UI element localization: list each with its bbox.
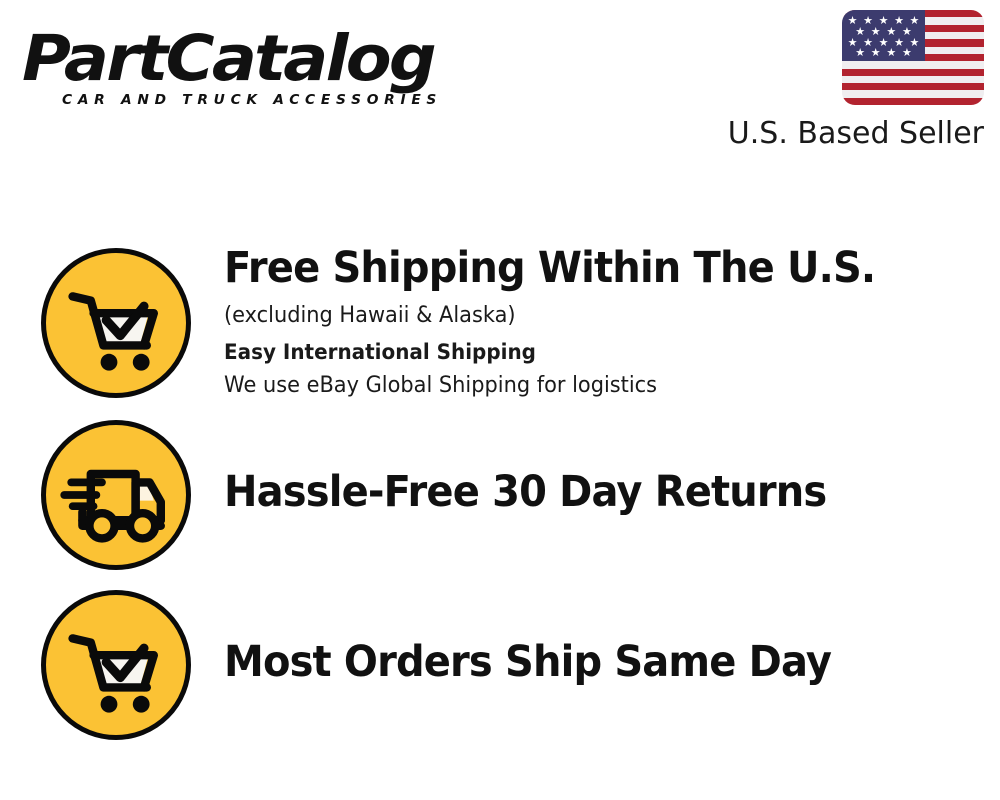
feature-item-returns: Hassle-Free 30 Day Returns	[41, 420, 941, 570]
feature-subtitle: Easy International Shipping	[224, 338, 536, 366]
us-based-seller-badge: ★★★★★ ★★★★ ★★★★★ ★★★★ U.S. Based Seller	[714, 10, 984, 151]
feature-title: Hassle-Free 30 Day Returns	[224, 464, 826, 520]
shopping-cart-check-icon	[41, 248, 191, 398]
feature-text: Hassle-Free 30 Day Returns	[224, 420, 944, 570]
feature-title: Free Shipping Within The U.S.	[224, 240, 875, 296]
brand-wordmark: PartCatalog	[22, 22, 434, 96]
brand-logo[interactable]: PartCatalog CAR AND TRUCK ACCESSORIES	[22, 22, 492, 114]
flag-canton: ★★★★★ ★★★★ ★★★★★ ★★★★	[842, 10, 925, 61]
feature-subtext: We use eBay Global Shipping for logistic…	[224, 371, 657, 401]
promo-banner: PartCatalog CAR AND TRUCK ACCESSORIES	[0, 0, 1000, 800]
feature-title: Most Orders Ship Same Day	[224, 634, 831, 690]
feature-text: Most Orders Ship Same Day	[224, 590, 944, 740]
shopping-cart-check-icon	[41, 590, 191, 740]
delivery-truck-icon	[41, 420, 191, 570]
us-flag-icon: ★★★★★ ★★★★ ★★★★★ ★★★★	[842, 10, 984, 105]
feature-text: Free Shipping Within The U.S. (excluding…	[224, 248, 944, 398]
us-based-seller-label: U.S. Based Seller	[714, 116, 984, 151]
star-row: ★★★★	[842, 48, 925, 59]
brand-tagline: CAR AND TRUCK ACCESSORIES	[62, 92, 442, 108]
feature-item-same-day-ship: Most Orders Ship Same Day	[41, 590, 941, 740]
feature-note: (excluding Hawaii & Alaska)	[224, 301, 516, 331]
feature-item-free-shipping: Free Shipping Within The U.S. (excluding…	[41, 248, 941, 398]
